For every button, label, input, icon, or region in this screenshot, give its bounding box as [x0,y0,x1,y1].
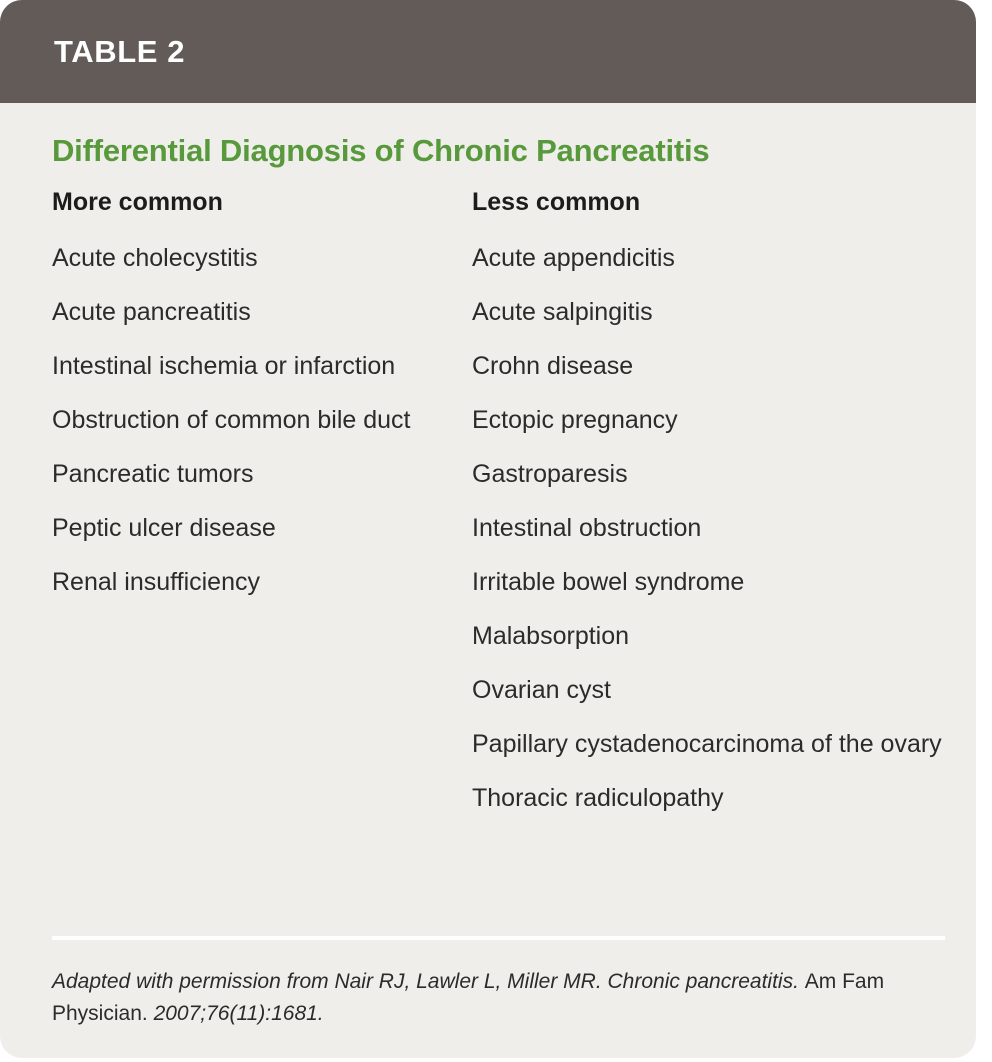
source-note-part-1: Adapted with permission from Nair RJ, La… [52,970,799,993]
source-note: Adapted with permission from Nair RJ, La… [52,966,945,1030]
list-more-common: Acute cholecystitis Acute pancreatitis I… [52,237,452,603]
diagnosis-columns: More common Acute cholecystitis Acute pa… [52,187,946,867]
list-item: Crohn disease [472,345,972,387]
list-item: Ectopic pregnancy [472,399,972,441]
column-less-common: Less common Acute appendicitis Acute sal… [472,187,972,831]
list-item: Intestinal obstruction [472,507,972,549]
list-item: Gastroparesis [472,453,972,495]
list-item: Acute pancreatitis [52,291,452,333]
list-item: Pancreatic tumors [52,453,452,495]
list-item: Acute cholecystitis [52,237,452,279]
table-number-label: TABLE 2 [54,36,185,67]
column-more-common: More common Acute cholecystitis Acute pa… [52,187,452,615]
list-item: Ovarian cyst [472,669,972,711]
list-item: Acute appendicitis [472,237,972,279]
column-heading-less-common: Less common [472,187,972,217]
table-body: Differential Diagnosis of Chronic Pancre… [0,103,976,867]
list-item: Intestinal ischemia or infarction [52,345,452,387]
list-item: Irritable bowel syndrome [472,561,972,603]
list-item: Obstruction of common bile duct [52,399,452,441]
list-item: Papillary cystadenocarcinoma of the ovar… [472,723,972,765]
table-header-bar: TABLE 2 [0,0,976,103]
column-heading-more-common: More common [52,187,452,217]
table-card: TABLE 2 Differential Diagnosis of Chroni… [0,0,976,1058]
list-item: Renal insufficiency [52,561,452,603]
list-item: Acute salpingitis [472,291,972,333]
divider [52,936,945,940]
list-less-common: Acute appendicitis Acute salpingitis Cro… [472,237,972,819]
page-title: Differential Diagnosis of Chronic Pancre… [52,103,742,173]
list-item: Malabsorption [472,615,972,657]
list-item: Thoracic radiculopathy [472,777,972,819]
footnote-section: Adapted with permission from Nair RJ, La… [52,936,945,1030]
source-note-citation: 2007;76(11):1681. [154,1002,324,1025]
list-item: Peptic ulcer disease [52,507,452,549]
